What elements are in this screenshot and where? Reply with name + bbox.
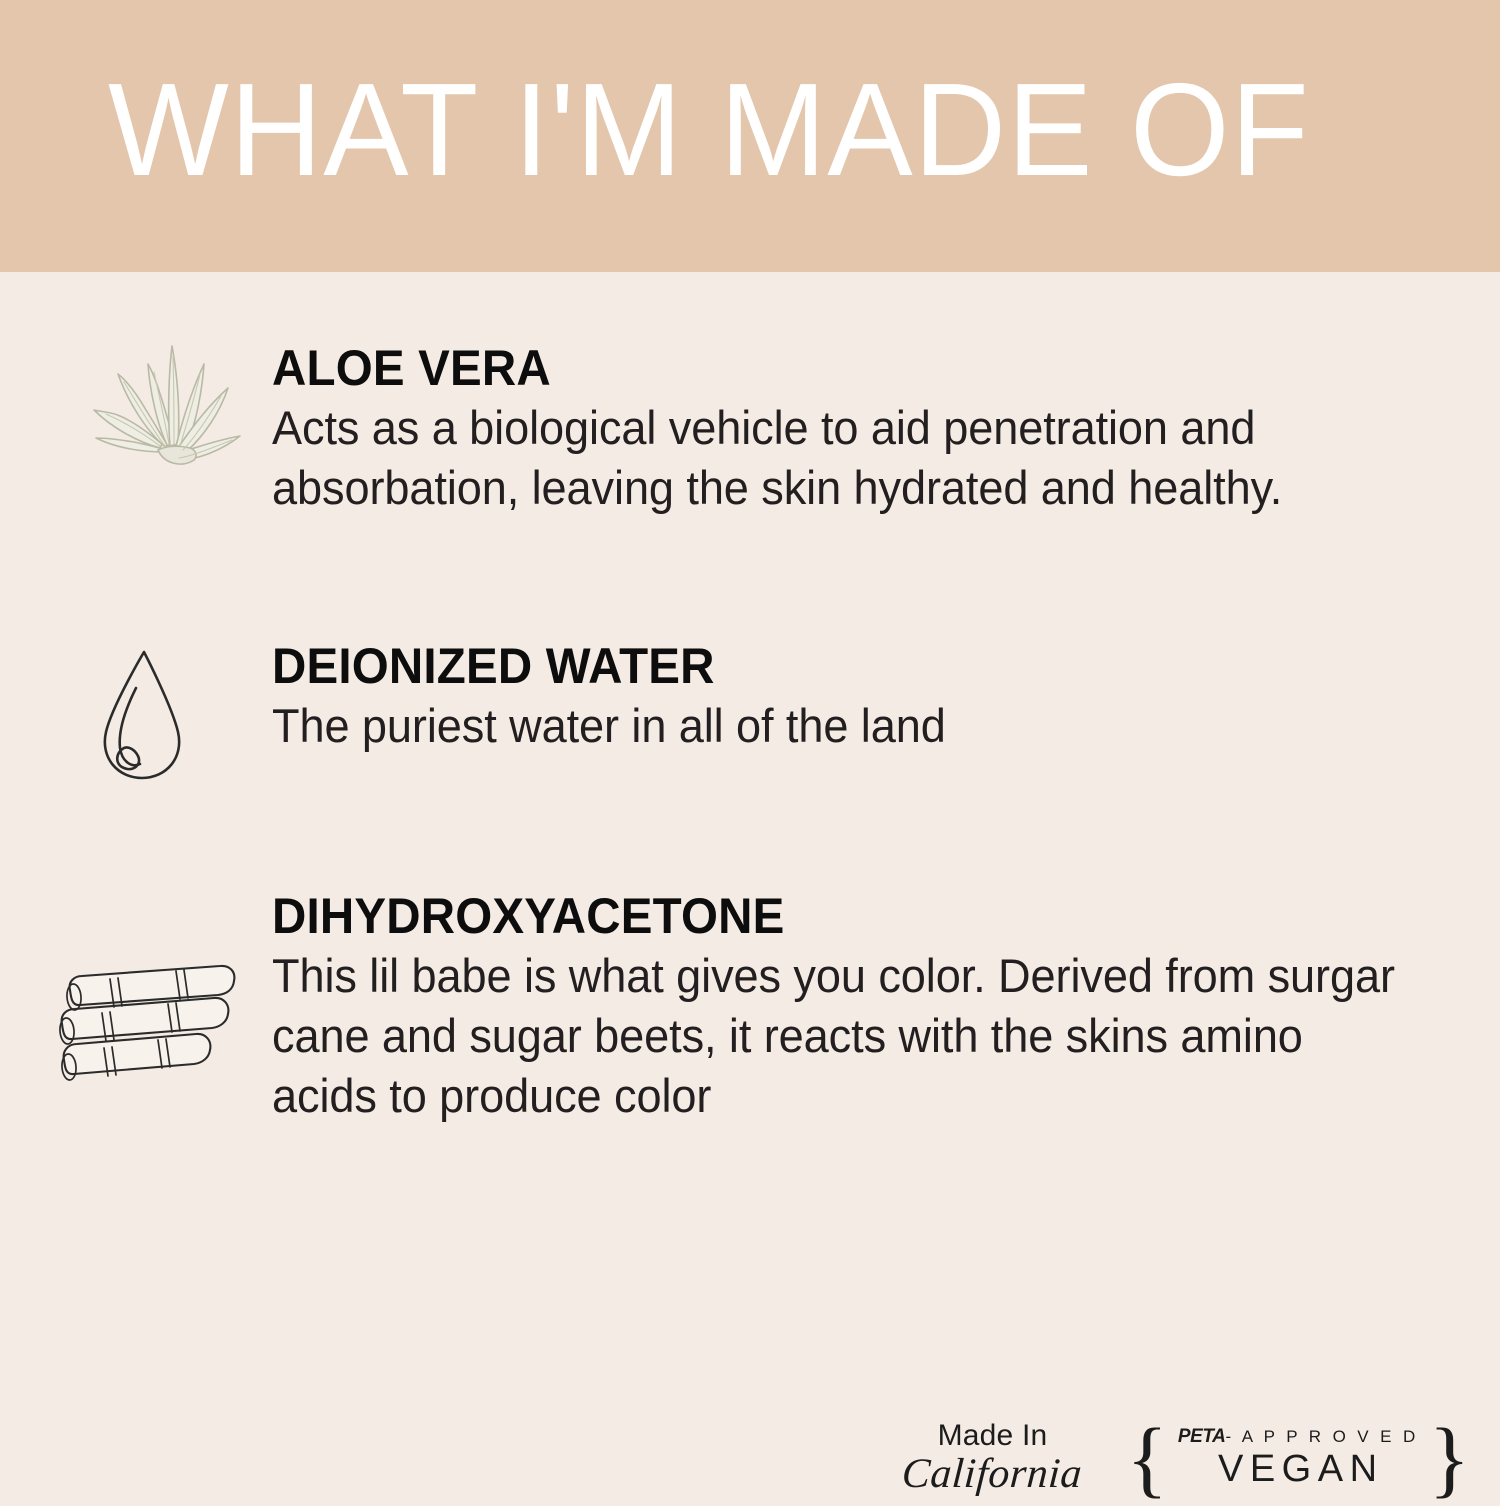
ingredient-text-aloe-vera: ALOE VERA Acts as a biological vehicle t… bbox=[272, 342, 1452, 518]
page-title: WHAT I'M MADE OF bbox=[108, 64, 1398, 196]
right-brace-icon: } bbox=[1429, 1423, 1470, 1494]
header-band: WHAT I'M MADE OF bbox=[0, 0, 1500, 272]
ingredient-description-dihydroxyacetone: This lil babe is what gives you color. D… bbox=[272, 946, 1405, 1126]
peta-logo-text: PETA bbox=[1178, 1426, 1226, 1447]
water-drop-icon bbox=[92, 644, 202, 794]
made-in-label: Made In bbox=[902, 1421, 1082, 1451]
peta-approved-line: PETA- A P P R O V E D bbox=[1178, 1427, 1419, 1446]
ingredient-text-dihydroxyacetone: DIHYDROXYACETONE This lil babe is what g… bbox=[272, 890, 1452, 1126]
ingredient-name-dihydroxyacetone: DIHYDROXYACETONE bbox=[272, 890, 1393, 942]
california-label: California bbox=[901, 1453, 1084, 1495]
ingredient-description-aloe-vera: Acts as a biological vehicle to aid pene… bbox=[272, 398, 1405, 518]
ingredient-description-deionized-water: The puriest water in all of the land bbox=[272, 696, 1405, 756]
vegan-badge-inner: PETA- A P P R O V E D VEGAN bbox=[1168, 1427, 1429, 1490]
footer-badges: Made In California { PETA- A P P R O V E… bbox=[1080, 1418, 1470, 1498]
ingredient-text-deionized-water: DEIONIZED WATER The puriest water in all… bbox=[272, 640, 1452, 756]
peta-approved-vegan-badge: { PETA- A P P R O V E D VEGAN } bbox=[1127, 1423, 1470, 1494]
made-in-california-badge: Made In California bbox=[902, 1421, 1082, 1495]
ingredient-name-aloe-vera: ALOE VERA bbox=[272, 342, 1393, 394]
vegan-label: VEGAN bbox=[1178, 1450, 1419, 1490]
sugar-cane-stalks-icon bbox=[44, 948, 254, 1093]
aloe-vera-plant-icon bbox=[72, 330, 262, 485]
ingredient-name-deionized-water: DEIONIZED WATER bbox=[272, 640, 1393, 692]
left-brace-icon: { bbox=[1127, 1423, 1168, 1494]
approved-label: - A P P R O V E D bbox=[1225, 1427, 1418, 1446]
